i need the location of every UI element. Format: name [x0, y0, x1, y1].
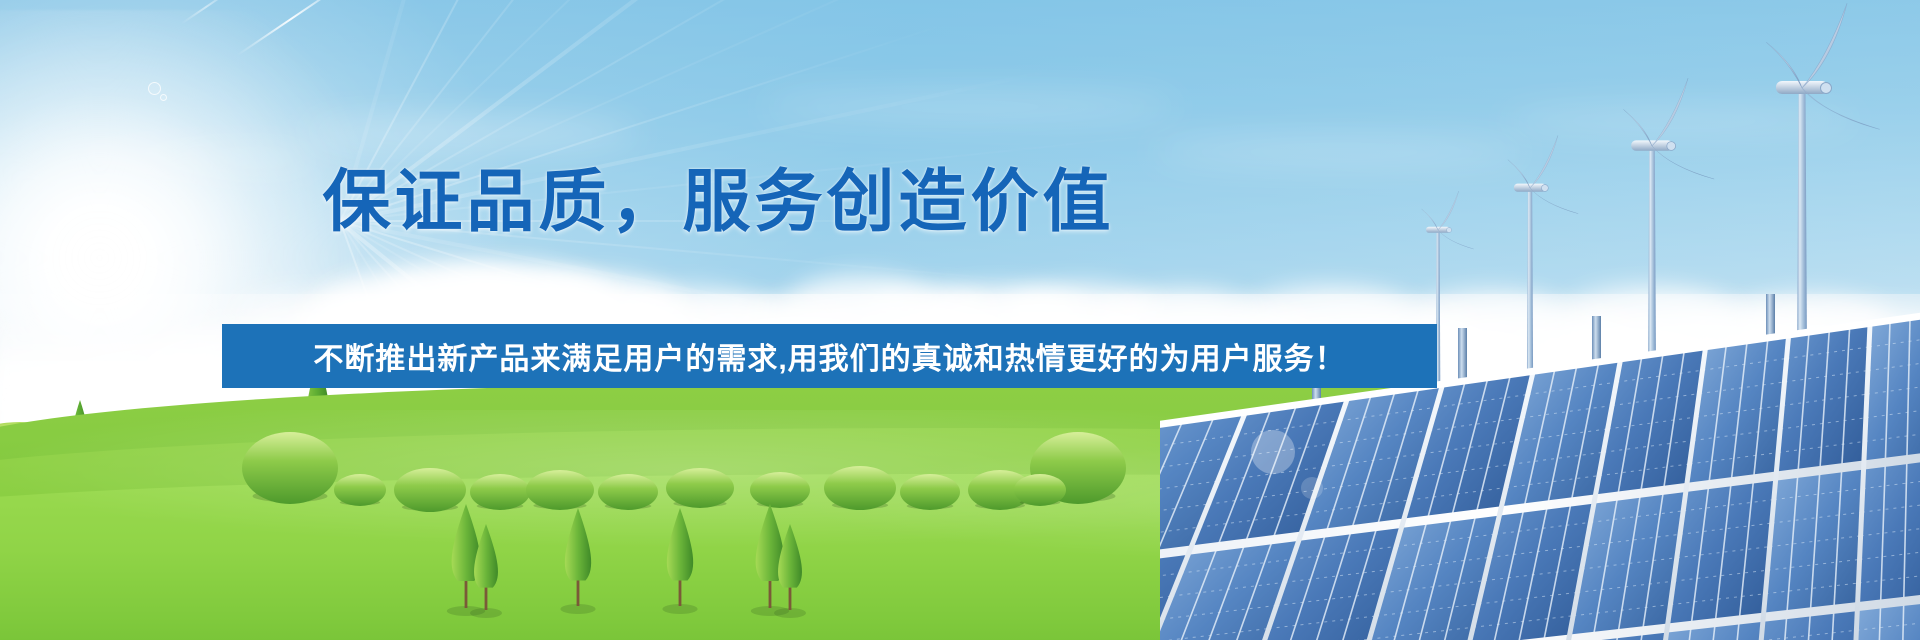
panel-lens-flare-2	[1301, 477, 1323, 499]
turbine-blade	[1438, 230, 1474, 249]
solar-module	[1864, 312, 1920, 465]
turbine-blade	[1438, 191, 1459, 230]
cirrus-cloud	[300, 120, 640, 146]
panel-lens-flare	[1251, 430, 1295, 474]
turbine-blade	[1802, 88, 1880, 129]
turbine-blade	[1530, 135, 1558, 188]
subtitle-text: 不断推出新产品来满足用户的需求,用我们的真诚和热情更好的为用户服务！	[313, 334, 1345, 378]
turbine-blade	[1530, 188, 1578, 214]
turbine-hub	[1541, 185, 1548, 192]
promo-banner: 保证品质，服务创造价值 不断推出新产品来满足用户的需求,用我们的真诚和热情更好的…	[0, 0, 1920, 640]
turbine-blade	[1802, 3, 1847, 88]
cirrus-cloud	[60, 150, 320, 170]
solar-module	[1763, 465, 1863, 617]
turbine-hub	[1821, 83, 1832, 94]
page-title: 保证品质，服务创造价值	[0, 168, 1437, 236]
subtitle-bar: 不断推出新产品来满足用户的需求,用我们的真诚和热情更好的为用户服务！	[222, 324, 1437, 388]
turbine-hub	[1447, 227, 1452, 232]
turbine-blade	[1652, 146, 1714, 179]
cirrus-cloud	[760, 96, 1180, 118]
turbine-blade	[1652, 78, 1688, 146]
solar-module	[1857, 454, 1920, 607]
turbine-hub	[1667, 142, 1676, 151]
